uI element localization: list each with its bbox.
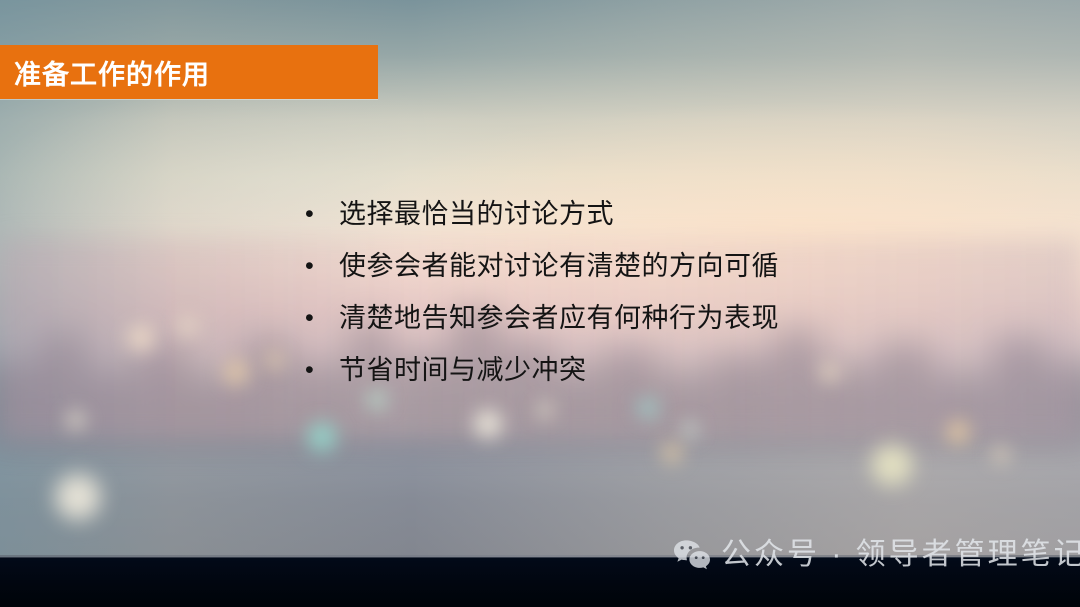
bullet-text: 节省时间与减少冲突: [339, 352, 587, 388]
bokeh-light: [124, 321, 158, 355]
bokeh-light: [48, 467, 108, 527]
list-item: • 选择最恰当的讨论方式: [305, 196, 925, 248]
bokeh-light: [990, 444, 1012, 466]
wechat-icon: [672, 538, 712, 572]
list-item: • 清楚地告知参会者应有何种行为表现: [305, 300, 925, 352]
bokeh-light: [303, 418, 341, 456]
bullet-point-icon: •: [305, 196, 339, 232]
slide-canvas: 准备工作的作用 • 选择最恰当的讨论方式 • 使参会者能对讨论有清楚的方向可循 …: [0, 0, 1080, 607]
bokeh-light: [470, 406, 506, 442]
watermark: 公众号 · 领导者管理笔记: [672, 538, 1080, 572]
bokeh-light: [943, 417, 973, 447]
bokeh-light: [659, 440, 685, 466]
list-item: • 使参会者能对讨论有清楚的方向可循: [305, 248, 925, 300]
title-banner: 准备工作的作用: [0, 45, 378, 99]
bokeh-light: [175, 313, 201, 339]
bullet-list: • 选择最恰当的讨论方式 • 使参会者能对讨论有清楚的方向可循 • 清楚地告知参…: [305, 196, 925, 404]
bullet-point-icon: •: [305, 352, 339, 388]
bullet-text: 选择最恰当的讨论方式: [339, 196, 614, 232]
list-item: • 节省时间与减少冲突: [305, 352, 925, 404]
bokeh-light: [64, 408, 88, 432]
bullet-text: 使参会者能对讨论有清楚的方向可循: [339, 248, 779, 284]
bokeh-light: [865, 438, 919, 492]
bokeh-light: [679, 419, 701, 441]
page-title: 准备工作的作用: [14, 53, 210, 92]
watermark-text: 公众号 · 领导者管理笔记: [721, 538, 1080, 572]
bokeh-light: [263, 348, 287, 372]
bullet-point-icon: •: [305, 248, 339, 284]
bokeh-light: [220, 356, 252, 388]
bullet-text: 清楚地告知参会者应有何种行为表现: [339, 300, 779, 336]
bullet-point-icon: •: [305, 300, 339, 336]
